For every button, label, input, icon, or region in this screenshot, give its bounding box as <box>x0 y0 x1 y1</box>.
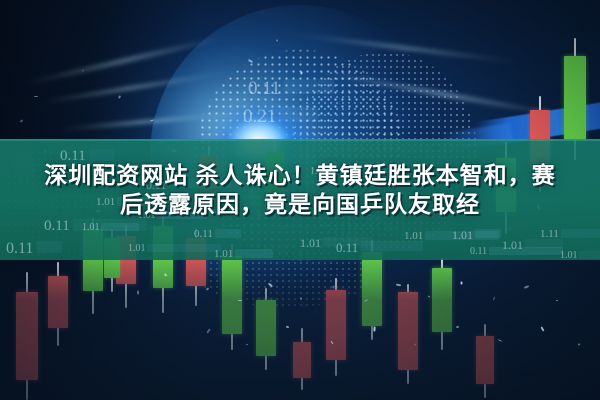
ticker-bar <box>89 149 115 161</box>
ticker-bar <box>36 241 62 253</box>
ticker-bar <box>279 107 317 122</box>
ticker-bar <box>215 229 241 238</box>
headline-line-2: 后透露原因，竟是向国乒队友取经 <box>0 190 600 219</box>
ticker-bar <box>235 249 273 258</box>
particle-fleck <box>460 281 462 284</box>
ticker-bar <box>284 79 334 94</box>
band-top-edge <box>0 139 600 141</box>
ticker-bar <box>361 241 423 251</box>
ticker-bar <box>475 229 501 238</box>
ticker-bar <box>579 251 600 259</box>
ticker-bar <box>101 223 139 231</box>
ticker-bar <box>147 244 221 252</box>
headline-line-1: 深圳配资网站 杀人诛心！黄镇廷胜张本智和，赛 <box>0 161 600 190</box>
headline-text: 深圳配资网站 杀人诛心！黄镇廷胜张本智和，赛 后透露原因，竟是向国乒队友取经 <box>0 161 600 219</box>
ticker-bar <box>561 229 600 238</box>
banner-image: 0.110.210.111.010.110.111.011.010.111.01… <box>0 0 600 400</box>
ticker-bar <box>489 247 563 255</box>
particle-fleck <box>300 297 301 299</box>
